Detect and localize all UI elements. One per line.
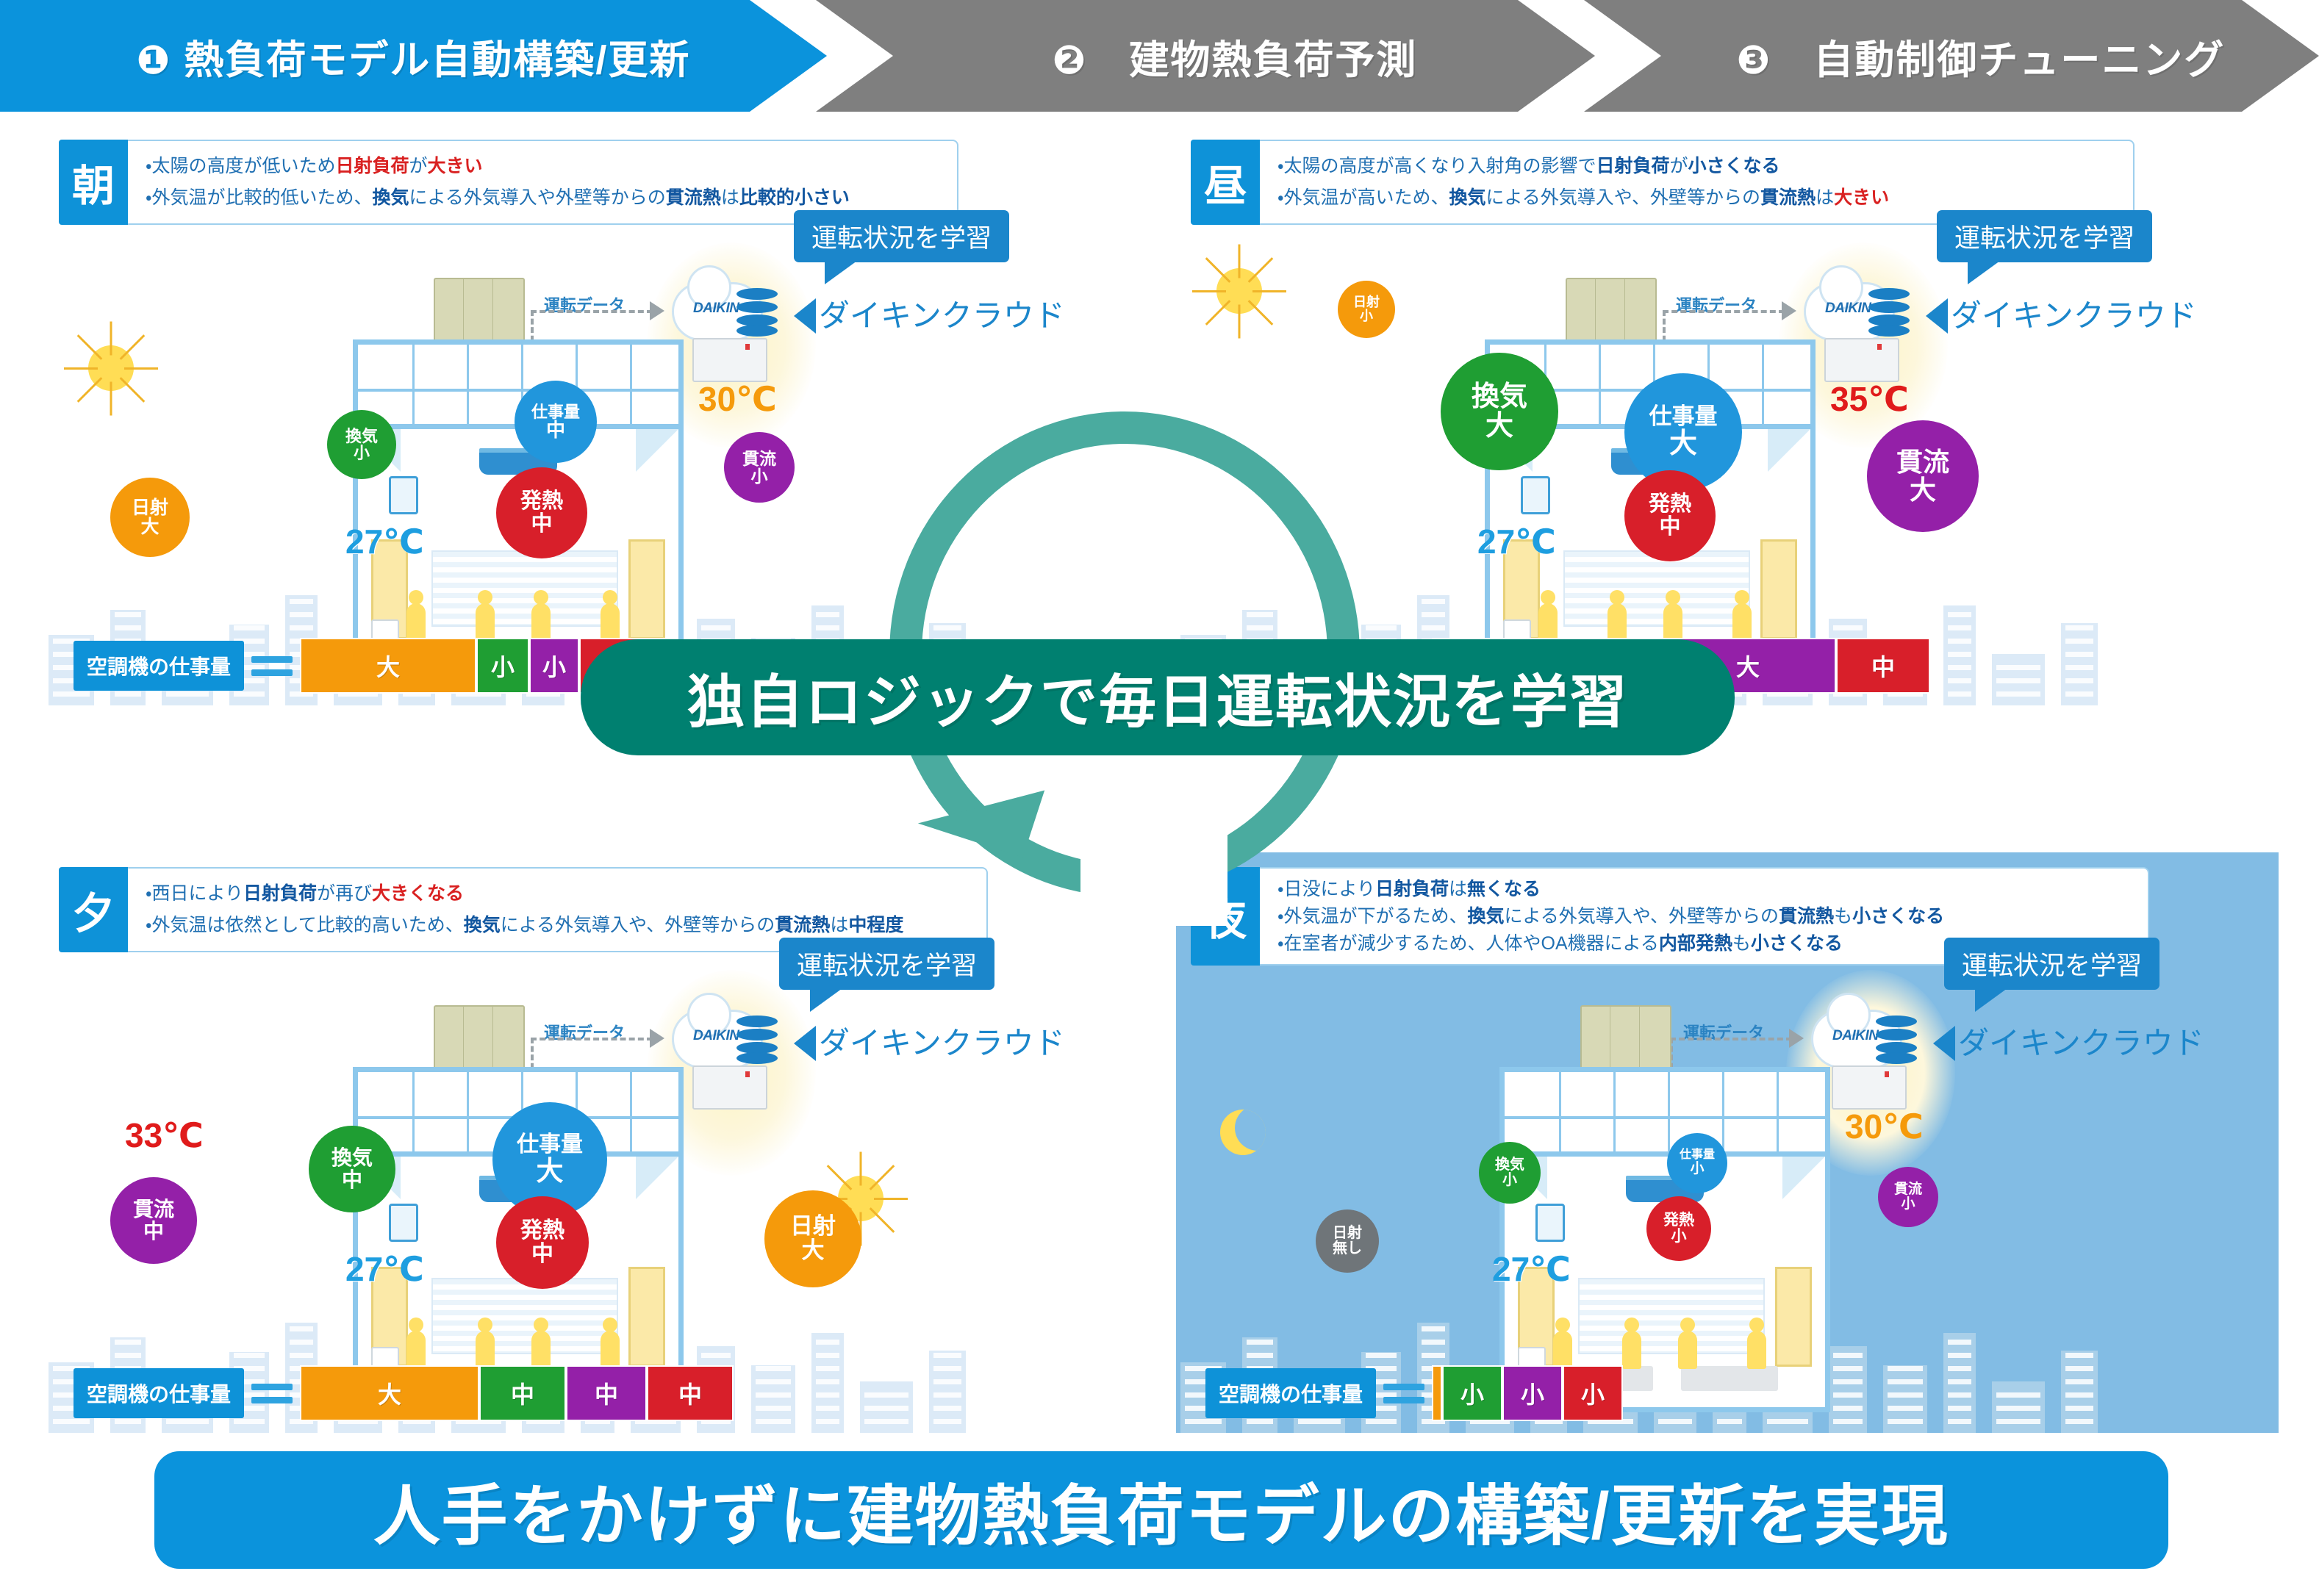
gateway-device-icon — [1832, 1065, 1907, 1110]
bubble-title: 日射 — [1353, 295, 1380, 309]
desc-fragment: 大きい — [1834, 187, 1889, 208]
bubble-発熱: 発熱 中 — [496, 1196, 589, 1289]
bubble-value: 中 — [531, 1243, 553, 1266]
indoor-temperature-evening: 27℃ — [345, 1249, 424, 1289]
sun-ray-icon — [1252, 290, 1286, 292]
person-icon — [406, 603, 426, 641]
desc-fragment: ・太陽の高度が低いため — [146, 156, 336, 176]
cloud-label: ダイキンクラウド — [819, 1018, 1065, 1063]
desc-fragment: 小さくなる — [1751, 933, 1843, 954]
window-right-icon — [1775, 1267, 1812, 1367]
person-icon — [476, 1331, 495, 1369]
desk-right-icon — [1681, 1366, 1778, 1391]
desc-fragment: 大きくなる — [372, 883, 464, 904]
bubble-発熱: 発熱 中 — [1624, 470, 1716, 561]
skyline-building — [2061, 1351, 2098, 1433]
outdoor-temperature-evening: 33℃ — [125, 1115, 204, 1155]
rooftop-hvac-unit-icon — [1566, 278, 1657, 345]
desc-line: ・太陽の高度が低いため日射負荷が大きい — [146, 154, 939, 179]
day-tag-morning: 朝 — [59, 140, 128, 225]
desc-fragment: 換気 — [1449, 187, 1486, 208]
sun-ray-icon — [120, 377, 146, 403]
cycle-ribbon-text: 独自ロジックで毎日運転状況を学習 — [687, 656, 1628, 738]
desc-fragment: も — [1732, 933, 1751, 954]
desc-fragment: が — [1670, 156, 1688, 176]
cloud-label: ダイキンクラウド — [1958, 1018, 2204, 1063]
sun-ray-icon — [827, 1165, 853, 1190]
database-icon — [736, 288, 778, 337]
data-flow-line-horizontal — [531, 310, 653, 313]
desc-fragment: 小さくなる — [1688, 156, 1780, 176]
bubble-日射: 日射 小 — [1338, 281, 1395, 338]
moon-icon — [1220, 1110, 1266, 1155]
step-2-label: ❷ 建物熱負荷予測 — [994, 27, 1418, 85]
desc-fragment: による外気導入や、外壁等からの — [501, 915, 775, 935]
step-3-label: ❸ 自動制御チューニング — [1678, 27, 2226, 85]
bubble-value: 大 — [1910, 476, 1936, 504]
learn-callout-morning: 運転状況を学習 — [794, 210, 1009, 262]
sun-ray-icon — [870, 1165, 895, 1190]
work-segment: 小 — [1563, 1365, 1623, 1421]
bubble-value: 小 — [1360, 309, 1373, 323]
sun-ray-icon — [1205, 300, 1231, 326]
desc-fragment: は — [830, 915, 848, 935]
sun-ray-icon — [124, 367, 158, 370]
learn-callout-text: 運転状況を学習 — [1954, 224, 2135, 253]
work-segment: 中 — [479, 1365, 566, 1421]
data-flow-line-horizontal — [531, 1038, 653, 1040]
cloud-pointer-arrow-icon — [1933, 1026, 1955, 1061]
learn-callout-noon: 運転状況を学習 — [1937, 210, 2152, 262]
work-segment: 中 — [1836, 638, 1930, 694]
gateway-device-icon — [1824, 338, 1899, 382]
data-flow-arrowhead-icon — [1782, 301, 1796, 320]
bubble-title: 貫流 — [742, 450, 776, 467]
step-3[interactable]: ❸ 自動制御チューニング — [1584, 0, 2319, 112]
scene-evening: DAIKIN ダイキンクラウド 運転データ 運転状況を学習 — [44, 963, 1125, 1433]
bubble-value: 小 — [751, 467, 768, 485]
bubble-貫流: 貫流 小 — [724, 432, 795, 503]
bubble-value: 大 — [1669, 429, 1697, 459]
window-right-icon — [1760, 539, 1797, 639]
bubble-value: 中 — [143, 1221, 164, 1243]
desc-fragment: 貫流熱 — [1779, 906, 1834, 927]
sun-ray-icon — [1239, 305, 1241, 339]
desc-line: ・西日により日射負荷が再び大きくなる — [146, 882, 969, 906]
desc-fragment: 貫流熱 — [666, 187, 721, 208]
database-icon — [736, 1016, 778, 1064]
bubble-value: 中 — [546, 420, 565, 441]
person-icon — [406, 1331, 426, 1369]
cloud-pointer-arrow-icon — [1926, 298, 1948, 334]
bubble-value: 中 — [531, 513, 552, 536]
scene-night: DAIKIN ダイキンクラウド 運転データ 運転状況を学習 — [1176, 963, 2279, 1433]
bubble-title: 日射 — [790, 1215, 836, 1239]
bubble-value: 無し — [1333, 1241, 1362, 1257]
desc-fragment: ・太陽の高度が高くなり入射角の影響で — [1277, 156, 1596, 176]
step-1-label: ❶ 熱負荷モデル自動構築/更新 — [137, 27, 691, 85]
desc-fragment: 日射負荷 — [1596, 156, 1670, 176]
desc-fragment: による外気導入や、外壁等からの — [1505, 906, 1779, 927]
wall-controller-icon — [1521, 476, 1550, 514]
bubble-value: 小 — [1690, 1162, 1704, 1176]
sun-ray-icon — [120, 334, 146, 360]
desc-fragment: 日射負荷 — [243, 883, 317, 904]
desc-line: ・外気温は依然として比較的高いため、換気による外気導入や、外壁等からの貫流熱は中… — [146, 913, 969, 938]
equals-sign-icon — [251, 1384, 293, 1403]
bubble-換気: 換気 中 — [309, 1126, 395, 1212]
learning-cycle: 独自ロジックで毎日運転状況を学習 — [860, 411, 1404, 970]
data-flow-arrowhead-icon — [1789, 1029, 1804, 1048]
desc-fragment: は — [721, 187, 739, 208]
bubble-title: 仕事量 — [1680, 1149, 1715, 1162]
indoor-temperature-night: 27℃ — [1492, 1249, 1571, 1289]
work-amount-label: 空調機の仕事量 — [74, 1368, 244, 1418]
cloud-label: ダイキンクラウド — [819, 291, 1065, 336]
sun-ray-icon — [110, 382, 112, 416]
bubble-value: 小 — [354, 445, 370, 461]
skyline-building — [2061, 623, 2098, 705]
sun-group — [1216, 268, 1284, 336]
step-2[interactable]: ❷ 建物熱負荷予測 — [816, 0, 1595, 112]
work-segment: 小 — [1442, 1365, 1502, 1421]
desc-line: ・日没により日射負荷は無くなる — [1277, 877, 2130, 902]
work-segment: 小 — [1502, 1365, 1563, 1421]
bubble-title: 貫流 — [1894, 1182, 1922, 1197]
bubble-value: 小 — [1502, 1173, 1517, 1188]
bubble-value: 大 — [802, 1239, 825, 1263]
work-amount-bar: 小小小 — [1432, 1365, 1623, 1421]
bubble-title: 日射 — [132, 498, 168, 518]
work-segment: 小 — [529, 638, 579, 694]
bookshelf-icon — [431, 550, 618, 627]
desc-fragment: による外気導入や外壁等からの — [409, 187, 666, 208]
bubble-title: 仕事量 — [517, 1133, 583, 1157]
bookshelf-icon — [431, 1278, 618, 1354]
sun-ray-icon — [1192, 290, 1226, 292]
sun-ray-icon — [1248, 300, 1274, 326]
person-icon — [1607, 603, 1627, 641]
work-segment: 大 — [300, 638, 476, 694]
outdoor-temperature-morning: 30℃ — [698, 379, 777, 419]
wall-controller-icon — [1535, 1204, 1565, 1242]
desc-fragment: 小さくなる — [1852, 906, 1944, 927]
bubble-value: 大 — [537, 1157, 564, 1185]
desc-fragment: も — [1834, 906, 1852, 927]
desc-fragment: 無くなる — [1467, 879, 1541, 899]
cloud-zone: DAIKIN ダイキンクラウド 運転データ — [654, 977, 963, 1139]
sun-ray-icon — [1248, 257, 1274, 283]
desc-fragment: ・西日により — [146, 883, 243, 904]
work-amount-label: 空調機の仕事量 — [1205, 1368, 1376, 1418]
skyline-building — [1992, 1381, 2045, 1433]
gateway-device-icon — [692, 338, 767, 382]
cloud-pointer-arrow-icon — [794, 298, 816, 334]
cloud-label: ダイキンクラウド — [1951, 291, 2197, 336]
rooftop-hvac-unit-icon — [434, 1005, 525, 1073]
indoor-temperature-morning: 27℃ — [345, 522, 424, 561]
bubble-value: 中 — [1659, 516, 1680, 539]
building-upper-floors — [1499, 1067, 1830, 1157]
desc-fragment: が — [409, 156, 428, 176]
bubble-title: 換気 — [1495, 1157, 1524, 1173]
bubble-title: 換気 — [345, 428, 378, 445]
skyline-building — [860, 1381, 913, 1433]
step-1[interactable]: ❶ 熱負荷モデル自動構築/更新 — [0, 0, 827, 112]
sun-ray-icon — [77, 377, 103, 403]
desc-fragment: 比較的小さい — [739, 187, 850, 208]
bubble-発熱: 発熱 小 — [1646, 1196, 1711, 1261]
desc-line: ・外気温が比較的低いため、換気による外気導入や外壁等からの貫流熱は比較的小さい — [146, 186, 939, 210]
equals-sign-icon — [251, 656, 293, 676]
indoor-temperature-noon: 27℃ — [1477, 522, 1556, 561]
work-segment — [1432, 1365, 1442, 1421]
skyline-building — [929, 1351, 966, 1433]
desc-fragment: 日射負荷 — [336, 156, 409, 176]
desc-fragment: ・外気温が比較的低いため、 — [146, 187, 373, 208]
sun-ray-icon — [874, 1198, 908, 1200]
database-icon — [1876, 1016, 1917, 1064]
sun-ray-icon — [1205, 257, 1231, 283]
work-amount-row-morning: 空調機の仕事量 大小小中 — [74, 638, 669, 694]
cycle-ribbon: 独自ロジックで毎日運転状況を学習 — [581, 639, 1735, 755]
bubble-title: 発熱 — [520, 1219, 564, 1243]
desc-fragment: 大きい — [428, 156, 483, 176]
wall-controller-icon — [389, 1204, 418, 1242]
bubble-仕事量: 仕事量 中 — [515, 381, 597, 463]
data-flow-line-horizontal — [1663, 310, 1785, 313]
sun-ray-icon — [870, 1207, 895, 1233]
learn-callout-night: 運転状況を学習 — [1944, 938, 2159, 990]
desc-fragment: 内部発熱 — [1659, 933, 1732, 954]
person-icon — [531, 603, 551, 641]
desc-fragment: 貫流熱 — [775, 915, 830, 935]
bubble-value: 小 — [1671, 1229, 1687, 1245]
gateway-device-icon — [692, 1065, 767, 1110]
bottom-banner: 人手をかけずに建物熱負荷モデルの構築/更新を実現 — [154, 1451, 2168, 1569]
equals-sign-icon — [1383, 1384, 1424, 1403]
data-flow-arrowhead-icon — [650, 301, 664, 320]
bubble-title: 発熱 — [520, 490, 563, 513]
work-amount-label: 空調機の仕事量 — [74, 641, 244, 691]
skyline-building — [811, 1333, 844, 1433]
desc-fragment: 貫流熱 — [1760, 187, 1816, 208]
day-tag-evening: 夕 — [59, 867, 128, 952]
person-icon — [601, 1331, 620, 1369]
desc-fragment: 換気 — [464, 915, 501, 935]
data-flow-arrowhead-icon — [650, 1029, 664, 1048]
person-icon — [1747, 1331, 1766, 1369]
person-icon — [1663, 603, 1682, 641]
bookshelf-icon — [1578, 1278, 1765, 1354]
person-icon — [1732, 603, 1752, 641]
outdoor-temperature-noon: 35℃ — [1830, 379, 1909, 419]
rooftop-hvac-unit-icon — [1580, 1005, 1671, 1073]
person-icon — [1678, 1331, 1697, 1369]
desc-fragment: 換気 — [1468, 906, 1505, 927]
bubble-title: 日射 — [1333, 1226, 1362, 1241]
person-icon — [1553, 1331, 1572, 1369]
desc-fragment: ・外気温が高いため、 — [1277, 187, 1449, 208]
desc-fragment: ・外気温は依然として比較的高いため、 — [146, 915, 464, 935]
bubble-仕事量: 仕事量 小 — [1667, 1133, 1727, 1193]
desc-line: ・外気温が高いため、換気による外気導入や、外壁等からの貫流熱は大きい — [1277, 186, 2115, 210]
skyline-building — [1943, 605, 1976, 705]
day-tag-noon: 昼 — [1191, 140, 1260, 225]
bubble-換気: 換気 小 — [1479, 1142, 1541, 1204]
work-amount-row-night: 空調機の仕事量 小小小 — [1205, 1365, 1623, 1421]
skyline-building — [1943, 1333, 1976, 1433]
bubble-貫流: 貫流 大 — [1867, 420, 1979, 532]
sun-group — [88, 345, 156, 413]
bubble-title: 換気 — [331, 1147, 373, 1169]
bubble-title: 仕事量 — [531, 403, 580, 420]
outdoor-temperature-night: 30℃ — [1845, 1107, 1924, 1146]
desc-fragment: は — [1449, 879, 1467, 899]
bubble-貫流: 貫流 小 — [1878, 1167, 1938, 1227]
database-icon — [1868, 288, 1910, 337]
skyline-building — [1829, 1346, 1867, 1433]
bubble-title: 発熱 — [1663, 1212, 1694, 1229]
daikin-logo-text: DAIKIN — [693, 1028, 739, 1044]
cloud-zone: DAIKIN ダイキンクラウド 運転データ — [1793, 977, 2102, 1139]
bubble-title: 仕事量 — [1649, 405, 1718, 429]
work-segment: 大 — [300, 1365, 479, 1421]
bubble-value: 大 — [140, 517, 159, 537]
process-steps: ❶ 熱負荷モデル自動構築/更新 ❷ 建物熱負荷予測 ❸ 自動制御チューニング — [0, 0, 2319, 112]
person-icon — [601, 603, 620, 641]
person-icon — [1538, 603, 1558, 641]
work-segment: 中 — [647, 1365, 734, 1421]
bubble-日射: 日射 大 — [764, 1190, 861, 1287]
daikin-logo-text: DAIKIN — [1832, 1028, 1878, 1044]
sun-ray-icon — [77, 334, 103, 360]
work-segment: 中 — [566, 1365, 647, 1421]
rooftop-hvac-unit-icon — [434, 278, 525, 345]
bubble-title: 発熱 — [1649, 493, 1691, 516]
work-amount-row-evening: 空調機の仕事量 大中中中 — [74, 1365, 734, 1421]
sun-ray-icon — [64, 367, 98, 370]
desc-line: ・太陽の高度が高くなり入射角の影響で日射負荷が小さくなる — [1277, 154, 2115, 179]
wall-controller-icon — [389, 476, 418, 514]
data-flow-line-horizontal — [1670, 1038, 1792, 1040]
bubble-日射: 日射 無し — [1316, 1209, 1379, 1273]
sun-ray-icon — [110, 322, 112, 356]
sun-ray-icon — [860, 1152, 862, 1186]
desc-fragment: が再び — [317, 883, 372, 904]
cloud-pointer-arrow-icon — [794, 1026, 816, 1061]
bubble-発熱: 発熱 中 — [496, 467, 587, 558]
desc-fragment: 換気 — [373, 187, 409, 208]
work-amount-bar: 大中中中 — [300, 1365, 734, 1421]
bubble-title: 貫流 — [133, 1198, 174, 1221]
window-right-icon — [628, 539, 665, 639]
bubble-title: 貫流 — [1896, 448, 1949, 476]
desc-line: ・外気温が下がるため、換気による外気導入や、外壁等からの貫流熱も小さくなる — [1277, 905, 2130, 929]
bubble-換気: 換気 小 — [327, 410, 396, 479]
work-segment: 小 — [476, 638, 529, 694]
daikin-logo-text: DAIKIN — [1825, 301, 1871, 317]
bottom-banner-text: 人手をかけずに建物熱負荷モデルの構築/更新を実現 — [373, 1462, 1949, 1558]
skyline-building — [1992, 654, 2045, 705]
bubble-貫流: 貫流 中 — [110, 1177, 197, 1264]
ring-mask — [1080, 794, 1227, 926]
skyline-building — [1883, 1365, 1927, 1433]
person-icon — [1622, 1331, 1641, 1369]
skyline-building — [751, 1365, 795, 1433]
person-icon — [476, 603, 495, 641]
bookshelf-icon — [1563, 550, 1750, 627]
bubble-value: 大 — [1485, 411, 1513, 441]
bubble-日射: 日射 大 — [110, 478, 190, 557]
desc-fragment: は — [1816, 187, 1834, 208]
desc-fragment: による外気導入や、外壁等からの — [1486, 187, 1761, 208]
sun-ray-icon — [1239, 245, 1241, 278]
bubble-value: 小 — [1901, 1197, 1915, 1212]
bubble-value: 中 — [342, 1169, 362, 1191]
bubble-title: 換気 — [1472, 382, 1527, 411]
learn-callout-text: 運転状況を学習 — [1962, 952, 2142, 980]
learn-callout-text: 運転状況を学習 — [811, 224, 992, 253]
daikin-logo-text: DAIKIN — [693, 301, 739, 317]
person-icon — [531, 1331, 551, 1369]
window-right-icon — [628, 1267, 665, 1367]
bubble-換気: 換気 大 — [1441, 353, 1558, 470]
